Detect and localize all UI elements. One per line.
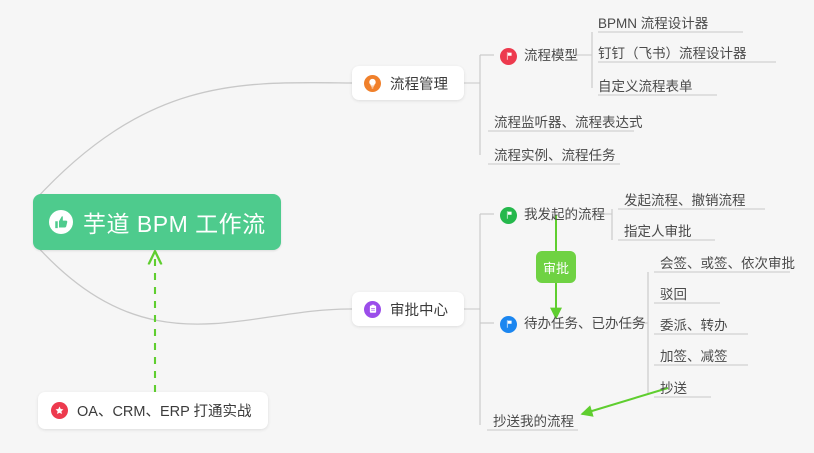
node-countersign[interactable]: 会签、或签、依次审批: [654, 252, 801, 278]
node-process-instance[interactable]: 流程实例、流程任务: [488, 144, 622, 170]
note-label: OA、CRM、ERP 打通实战: [77, 400, 252, 421]
node-start-cancel-process[interactable]: 发起流程、撤销流程: [618, 189, 752, 215]
flag-icon: [500, 48, 517, 65]
node-process-listener[interactable]: 流程监听器、流程表达式: [488, 111, 649, 137]
mindmap-canvas: 芋道 BPM 工作流 流程管理 流程模型 BPMN 流程设计器 钉钉（飞书）流程…: [0, 0, 814, 453]
node-label: 驳回: [660, 286, 687, 304]
node-label: 待办任务、已办任务: [524, 315, 646, 333]
clipboard-icon: [364, 301, 381, 318]
node-label: 钉钉（飞书）流程设计器: [598, 45, 747, 63]
node-add-remove-sign[interactable]: 加签、减签: [654, 345, 734, 371]
node-label: 自定义流程表单: [598, 78, 693, 96]
node-designated-approver[interactable]: 指定人审批: [618, 220, 698, 246]
star-icon: [51, 402, 68, 419]
branch-label: 流程管理: [390, 73, 448, 94]
node-label: 加签、减签: [660, 348, 728, 366]
node-custom-process-form[interactable]: 自定义流程表单: [592, 75, 699, 101]
node-label: 抄送: [660, 380, 687, 398]
node-bpmn-designer[interactable]: BPMN 流程设计器: [592, 12, 714, 38]
thumbs-up-icon: [49, 210, 73, 234]
node-label: BPMN 流程设计器: [598, 15, 708, 33]
node-label: 发起流程、撤销流程: [624, 192, 746, 210]
node-label: 会签、或签、依次审批: [660, 255, 795, 273]
wire-root-to-approval: [35, 244, 352, 324]
node-cc[interactable]: 抄送: [654, 377, 693, 403]
node-label: 流程模型: [524, 47, 578, 65]
node-cc-my-process[interactable]: 抄送我的流程: [487, 410, 580, 436]
branch-label: 审批中心: [390, 299, 448, 320]
root-node[interactable]: 芋道 BPM 工作流: [33, 194, 281, 250]
node-label: 我发起的流程: [524, 206, 605, 224]
root-label: 芋道 BPM 工作流: [83, 205, 266, 239]
node-label: 流程实例、流程任务: [494, 147, 616, 165]
node-label: 委派、转办: [660, 317, 728, 335]
flag-icon: [500, 316, 517, 333]
node-label: 流程监听器、流程表达式: [494, 114, 643, 132]
node-my-started-process[interactable]: 我发起的流程: [494, 203, 611, 229]
node-label: 指定人审批: [624, 223, 692, 241]
wire-root-to-process: [35, 83, 352, 200]
branch-node-approval-center[interactable]: 审批中心: [352, 292, 464, 326]
node-reject[interactable]: 驳回: [654, 283, 693, 309]
lightbulb-icon: [364, 75, 381, 92]
node-todo-done-tasks[interactable]: 待办任务、已办任务: [494, 312, 652, 338]
branch-node-process-management[interactable]: 流程管理: [352, 66, 464, 100]
node-process-model[interactable]: 流程模型: [494, 44, 584, 70]
node-label: 抄送我的流程: [493, 413, 574, 431]
approval-badge: 审批: [536, 251, 576, 283]
approval-badge-label: 审批: [543, 258, 569, 277]
flag-icon: [500, 207, 517, 224]
node-dingtalk-feishu-designer[interactable]: 钉钉（飞书）流程设计器: [592, 42, 753, 68]
note-node-integration[interactable]: OA、CRM、ERP 打通实战: [38, 392, 268, 429]
node-delegate-transfer[interactable]: 委派、转办: [654, 314, 734, 340]
